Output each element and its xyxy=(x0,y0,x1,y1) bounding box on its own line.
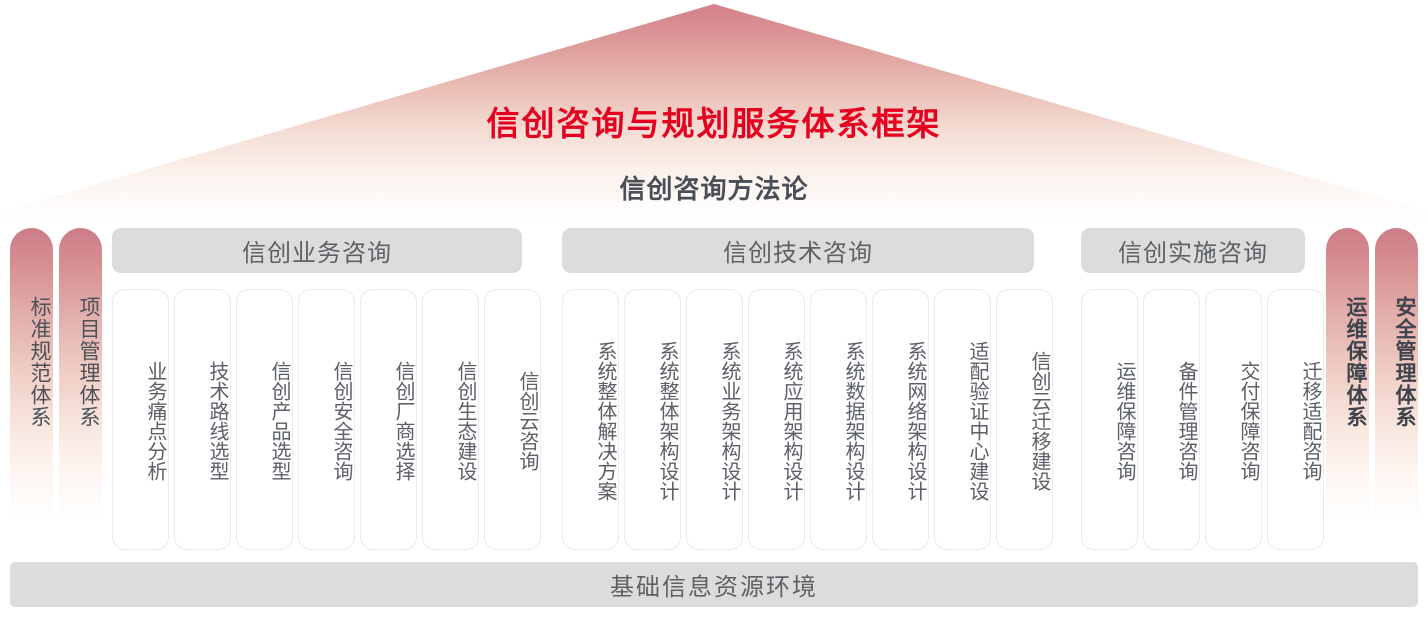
card-label: 系统整体解决方案 xyxy=(563,302,618,540)
foundation-bar: 基础信息资源环境 xyxy=(10,562,1418,607)
card-label: 运维保障咨询 xyxy=(1082,302,1137,540)
list-item[interactable]: 系统网络架构设计 xyxy=(872,289,929,550)
card-label: 技术路线选型 xyxy=(175,302,230,540)
pillar-project-management: 项目管理体系 xyxy=(59,228,102,560)
list-item[interactable]: 信创安全咨询 xyxy=(298,289,355,550)
list-item[interactable]: 运维保障咨询 xyxy=(1081,289,1138,550)
card-label: 系统业务架构设计 xyxy=(687,302,742,540)
group-header: 信创技术咨询 xyxy=(562,228,1034,273)
diagram-canvas: 信创咨询与规划服务体系框架 信创咨询方法论 标准规范体系 项目管理体系 运维保障… xyxy=(0,0,1428,627)
list-item[interactable]: 信创云咨询 xyxy=(484,289,541,550)
card-label: 信创产品选型 xyxy=(237,302,292,540)
card-label: 系统数据架构设计 xyxy=(811,302,866,540)
card-label: 备件管理咨询 xyxy=(1144,302,1199,540)
group-card-list: 系统整体解决方案 系统整体架构设计 系统业务架构设计 系统应用架构设计 系统数据… xyxy=(562,289,1053,550)
list-item[interactable]: 系统整体解决方案 xyxy=(562,289,619,550)
card-label: 交付保障咨询 xyxy=(1206,302,1261,540)
pillar-label: 运维保障体系 xyxy=(1326,296,1369,428)
list-item[interactable]: 信创生态建设 xyxy=(422,289,479,550)
card-label: 信创厂商选择 xyxy=(361,302,416,540)
page-title: 信创咨询与规划服务体系框架 xyxy=(0,97,1428,145)
list-item[interactable]: 系统应用架构设计 xyxy=(748,289,805,550)
group-header: 信创业务咨询 xyxy=(112,228,522,273)
group-header: 信创实施咨询 xyxy=(1081,228,1305,273)
list-item[interactable]: 技术路线选型 xyxy=(174,289,231,550)
card-label: 信创云迁移建设 xyxy=(997,302,1052,540)
list-item[interactable]: 业务痛点分析 xyxy=(112,289,169,550)
card-label: 信创云咨询 xyxy=(485,302,540,540)
card-label: 系统整体架构设计 xyxy=(625,302,680,540)
list-item[interactable]: 信创厂商选择 xyxy=(360,289,417,550)
list-item[interactable]: 系统业务架构设计 xyxy=(686,289,743,550)
page-subtitle: 信创咨询方法论 xyxy=(0,169,1428,206)
pillar-label: 项目管理体系 xyxy=(59,296,102,428)
card-label: 信创安全咨询 xyxy=(299,302,354,540)
card-label: 适配验证中心建设 xyxy=(935,302,990,540)
pillar-label: 安全管理体系 xyxy=(1375,296,1418,428)
group-implementation-consulting: 信创实施咨询 运维保障咨询 备件管理咨询 交付保障咨询 迁移适配咨询 xyxy=(1081,228,1305,273)
pillar-security-management: 安全管理体系 xyxy=(1375,228,1418,560)
list-item[interactable]: 迁移适配咨询 xyxy=(1267,289,1324,550)
card-label: 迁移适配咨询 xyxy=(1268,302,1323,540)
card-label: 业务痛点分析 xyxy=(113,302,168,540)
list-item[interactable]: 系统数据架构设计 xyxy=(810,289,867,550)
card-label: 系统网络架构设计 xyxy=(873,302,928,540)
card-label: 系统应用架构设计 xyxy=(749,302,804,540)
list-item[interactable]: 系统整体架构设计 xyxy=(624,289,681,550)
list-item[interactable]: 备件管理咨询 xyxy=(1143,289,1200,550)
group-business-consulting: 信创业务咨询 业务痛点分析 技术路线选型 信创产品选型 信创安全咨询 信创厂商选… xyxy=(112,228,522,273)
list-item[interactable]: 信创产品选型 xyxy=(236,289,293,550)
card-label: 信创生态建设 xyxy=(423,302,478,540)
pillar-ops-assurance: 运维保障体系 xyxy=(1326,228,1369,560)
pillar-standard-spec: 标准规范体系 xyxy=(10,228,53,560)
list-item[interactable]: 信创云迁移建设 xyxy=(996,289,1053,550)
pillar-label: 标准规范体系 xyxy=(10,296,53,428)
list-item[interactable]: 适配验证中心建设 xyxy=(934,289,991,550)
group-card-list: 运维保障咨询 备件管理咨询 交付保障咨询 迁移适配咨询 xyxy=(1081,289,1324,550)
group-technology-consulting: 信创技术咨询 系统整体解决方案 系统整体架构设计 系统业务架构设计 系统应用架构… xyxy=(562,228,1034,273)
list-item[interactable]: 交付保障咨询 xyxy=(1205,289,1262,550)
group-card-list: 业务痛点分析 技术路线选型 信创产品选型 信创安全咨询 信创厂商选择 信创生态建… xyxy=(112,289,541,550)
